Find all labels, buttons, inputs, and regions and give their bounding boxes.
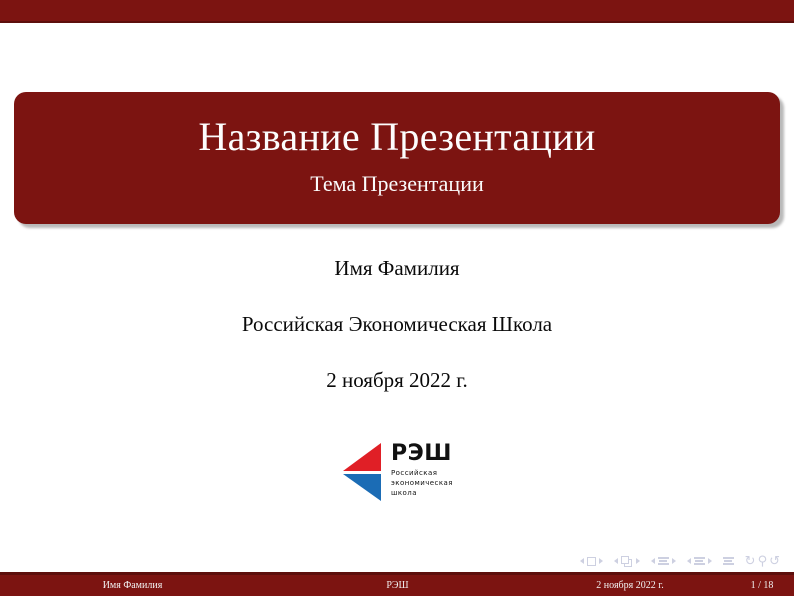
next-section-icon[interactable] xyxy=(708,558,712,564)
title-box: Название Презентации Тема Презентации xyxy=(14,92,780,224)
search-icon[interactable]: ⚲ xyxy=(758,555,768,568)
logo-subtext-line2: экономическая xyxy=(391,478,467,488)
beamer-navigation-symbols[interactable]: ↻ ⚲ ↺ xyxy=(580,553,780,569)
prev-subsection-icon[interactable] xyxy=(651,558,655,564)
page-subtitle: Тема Презентации xyxy=(310,171,484,197)
frames-icon[interactable] xyxy=(621,556,633,567)
forward-icon[interactable]: ↺ xyxy=(769,555,780,568)
logo-acronym: РЭШ xyxy=(391,443,467,465)
logo-subtext-line1: Российская xyxy=(391,468,467,478)
footer-date: 2 ноября 2022 г. xyxy=(530,575,730,596)
footer-page-number: 1 / 18 xyxy=(730,575,794,596)
next-subsection-icon[interactable] xyxy=(672,558,676,564)
subsection-navigation-group[interactable] xyxy=(651,557,676,564)
prev-section-icon[interactable] xyxy=(687,558,691,564)
presentation-date: 2 ноября 2022 г. xyxy=(0,370,794,391)
title-meta-block: Имя Фамилия Российская Экономическая Шко… xyxy=(0,258,794,391)
logo-wordmark: РЭШ Российская экономическая школа xyxy=(391,443,467,498)
author-name: Имя Фамилия xyxy=(0,258,794,279)
page-title: Название Презентации xyxy=(198,115,595,159)
prev-slide-icon[interactable] xyxy=(580,558,584,564)
misc-navigation-group[interactable]: ↻ ⚲ ↺ xyxy=(745,555,780,568)
logo-subtext-line3: школа xyxy=(391,488,467,498)
next-frame-icon[interactable] xyxy=(636,558,640,564)
top-accent-bar xyxy=(0,0,794,21)
institute-name: Российская Экономическая Школа xyxy=(0,314,794,335)
presentation-slide: Название Презентации Тема Презентации Им… xyxy=(0,0,794,596)
prev-frame-icon[interactable] xyxy=(614,558,618,564)
slide-footer: Имя Фамилия РЭШ 2 ноября 2022 г. 1 / 18 xyxy=(0,575,794,596)
frame-icon[interactable] xyxy=(587,557,596,566)
footer-author: Имя Фамилия xyxy=(0,575,265,596)
frame-navigation-group[interactable] xyxy=(614,556,640,567)
logo-subtext: Российская экономическая школа xyxy=(391,468,467,498)
back-icon[interactable]: ↻ xyxy=(745,555,756,568)
top-accent-rule xyxy=(0,21,794,23)
nes-logo: РЭШ Российская экономическая школа xyxy=(341,441,461,505)
document-navigation-group[interactable] xyxy=(723,557,734,564)
footer-institute: РЭШ xyxy=(265,575,530,596)
next-slide-icon[interactable] xyxy=(599,558,603,564)
slide-navigation-group[interactable] xyxy=(580,557,603,566)
document-lines-icon[interactable] xyxy=(723,557,734,564)
section-lines-icon[interactable] xyxy=(694,557,705,564)
subsection-lines-icon[interactable] xyxy=(658,557,669,564)
section-navigation-group[interactable] xyxy=(687,557,712,564)
logo-triangle-icon xyxy=(341,441,385,503)
